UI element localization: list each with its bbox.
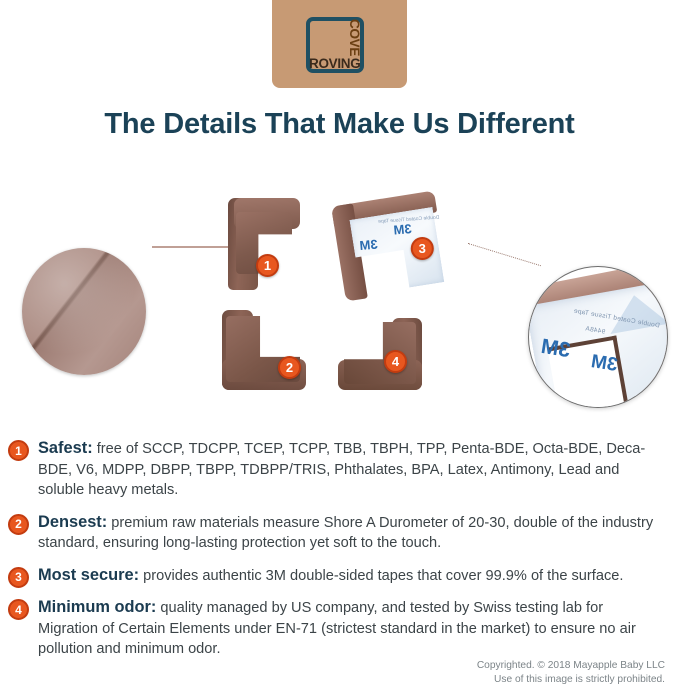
logo-text-cove: COVE [348,19,362,56]
feature-list: 1 Safest: free of SCCP, TDCPP, TCEP, TCP… [0,438,679,671]
brand-logo: ROVING COVE [272,0,407,88]
feature-badge-1: 1 [8,440,29,461]
connector-line-left [152,246,230,248]
tape-brand-label: 3M [393,221,412,238]
piece-badge-1: 1 [256,254,279,277]
logo-square-outline: ROVING COVE [306,17,364,73]
feature-label-4: Minimum odor: [38,598,156,616]
corner-guard-piece-4: 4 [338,318,422,390]
feature-text-2: Densest: premium raw materials measure S… [38,512,665,554]
tape-brand-label: 3M [359,237,378,254]
feature-text-1: Safest: free of SCCP, TDCPP, TCEP, TCPP,… [38,438,665,501]
copyright-line-1: Copyrighted. © 2018 Mayapple Baby LLC [477,659,665,673]
magnified-tape-brand-label: 3M [589,351,619,377]
corner-guard-piece-1: 1 [228,198,300,290]
feature-item: 2 Densest: premium raw materials measure… [0,512,679,554]
piece-badge-2: 2 [278,356,301,379]
copyright-notice: Copyrighted. © 2018 Mayapple Baby LLC Us… [477,659,665,686]
feature-text-3: Most secure: provides authentic 3M doubl… [38,565,665,587]
foam-surface-magnified-circle [22,248,146,375]
logo-text-roving: ROVING [309,57,360,71]
corner-face [344,322,416,384]
feature-label-2: Densest: [38,513,107,531]
feature-badge-2: 2 [8,514,29,535]
feature-text-4: Minimum odor: quality managed by US comp… [38,597,665,660]
header-logo-area: ROVING COVE [0,0,679,92]
3m-tape-magnified-circle: Double Coated Tissue Tape 9448A 3M 3M [528,266,668,408]
feature-item: 1 Safest: free of SCCP, TDCPP, TCEP, TCP… [0,438,679,501]
feature-body-2: premium raw materials measure Shore A Du… [38,515,653,552]
copyright-line-2: Use of this image is strictly prohibited… [477,673,665,687]
feature-label-3: Most secure: [38,566,139,584]
feature-body-3: provides authentic 3M double-sided tapes… [139,568,623,584]
tape-zoom-content: Double Coated Tissue Tape 9448A 3M 3M [529,267,667,407]
feature-label-1: Safest: [38,439,93,457]
corner-guard-piece-3-tape-side: Double Coated Tissue Tape 3M 3M 3 [331,190,449,301]
feature-item: 3 Most secure: provides authentic 3M dou… [0,565,679,587]
piece-badge-3: 3 [411,237,434,260]
page-title: The Details That Make Us Different [0,108,679,141]
feature-item: 4 Minimum odor: quality managed by US co… [0,597,679,660]
corner-guard-piece-2: 2 [222,310,306,390]
piece-badge-4: 4 [384,350,407,373]
feature-badge-4: 4 [8,599,29,620]
feature-body-1: free of SCCP, TDCPP, TCEP, TCPP, TBB, TB… [38,441,645,498]
feature-badge-3: 3 [8,567,29,588]
magnified-tape-brand-label: 3M [539,335,572,363]
